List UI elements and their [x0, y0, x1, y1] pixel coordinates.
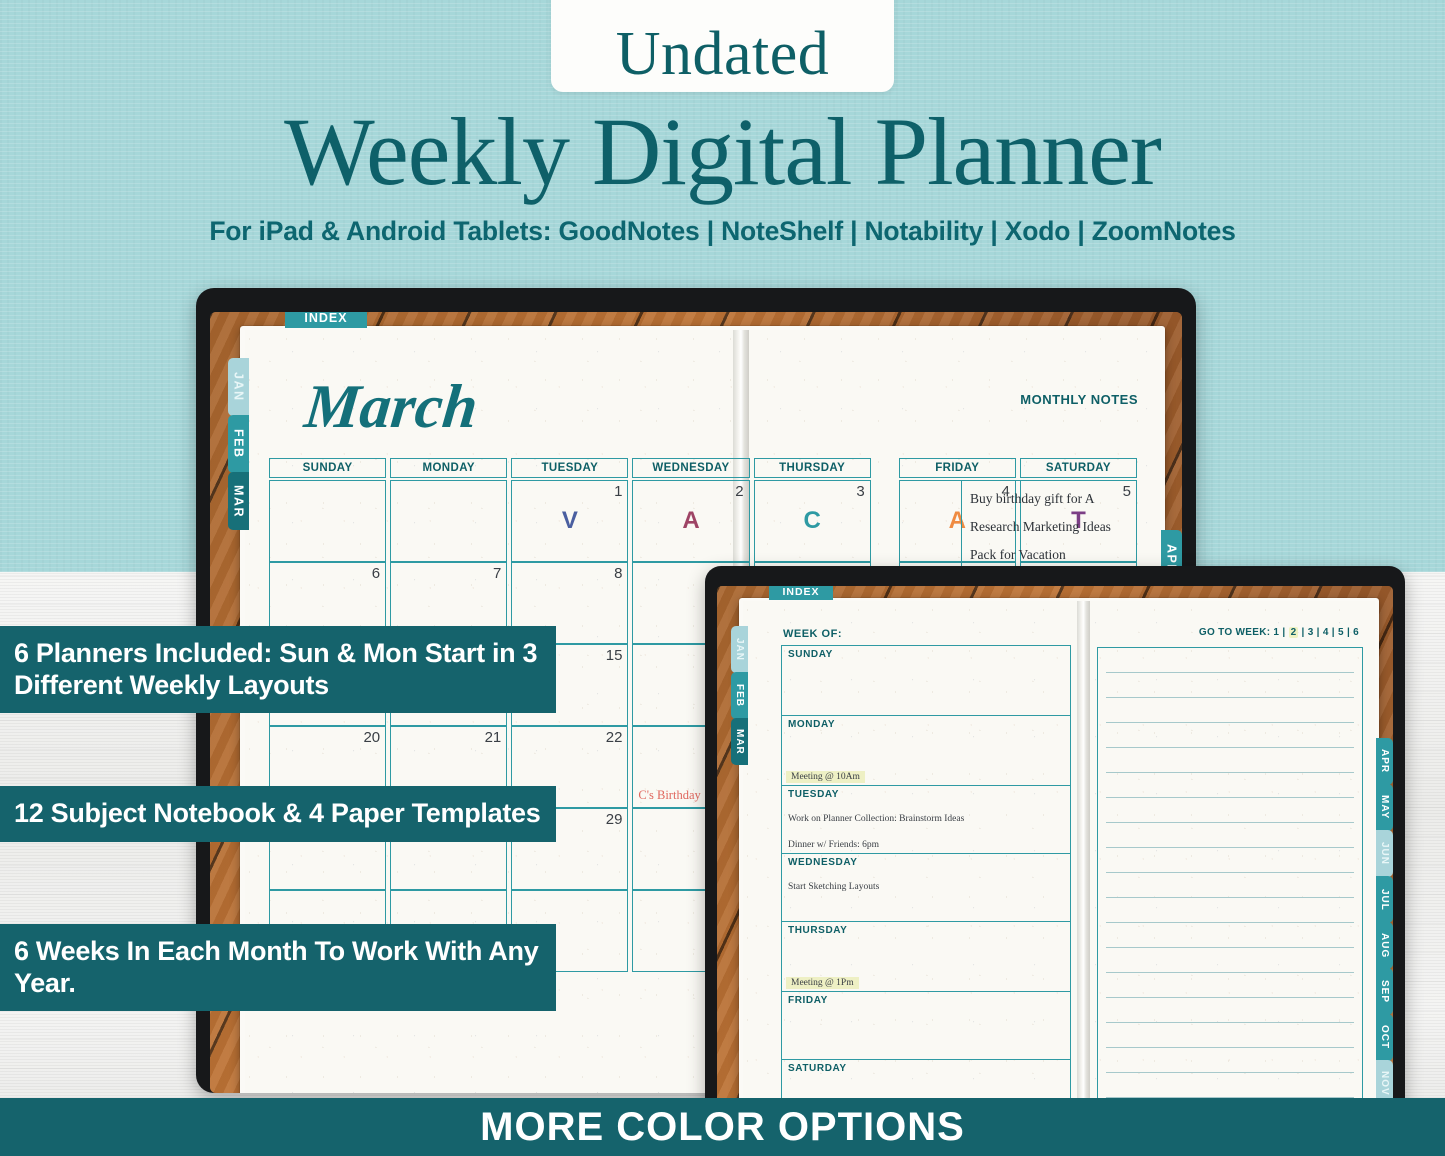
more-color-options-label: MORE COLOR OPTIONS	[480, 1105, 965, 1150]
calendar-day-number: 3	[856, 483, 864, 500]
goto-week-separator: |	[1314, 627, 1323, 638]
goto-week-separator: |	[1329, 627, 1338, 638]
note-line[interactable]	[1106, 898, 1354, 923]
calendar-weekday-header: TUESDAY	[511, 458, 628, 478]
calendar-day-number: 6	[372, 565, 380, 582]
month-tabs-left: JANFEBMAR	[731, 586, 751, 1126]
tablet-week-view: WEEK OF: GO TO WEEK: 1 | 2 | 3 | 4 | 5 |…	[705, 566, 1405, 1126]
calendar-day-cell[interactable]	[390, 480, 507, 562]
note-line[interactable]	[1106, 1048, 1354, 1073]
note-line[interactable]	[1106, 648, 1354, 673]
planner-page-week: WEEK OF: GO TO WEEK: 1 | 2 | 3 | 4 | 5 |…	[743, 601, 1375, 1126]
month-tab-apr[interactable]: APR	[1376, 738, 1393, 785]
day-note: Work on Planner Collection: Brainstorm I…	[782, 812, 1070, 824]
note-line[interactable]	[1106, 723, 1354, 748]
calendar-day-cell[interactable]: 1V	[511, 480, 628, 562]
calendar-day-cell[interactable]: 2A	[632, 480, 749, 562]
undated-badge: Undated	[551, 0, 894, 92]
note-line[interactable]	[1106, 698, 1354, 723]
month-tab-sep[interactable]: SEP	[1376, 968, 1393, 1015]
calendar-day-number: 1	[614, 483, 622, 500]
calendar-column-gap	[875, 480, 895, 562]
calendar-column-gap	[875, 458, 895, 478]
month-tab-mar[interactable]: MAR	[731, 718, 748, 765]
day-section-monday[interactable]: MONDAYMeeting @ 10Am	[781, 715, 1071, 785]
book-spine	[1077, 601, 1090, 1126]
calendar-day-number: 15	[606, 647, 623, 664]
day-label: THURSDAY	[782, 922, 1070, 936]
calendar-day-number: 7	[493, 565, 501, 582]
calendar-day-number: 2	[735, 483, 743, 500]
monthly-note-item: Pack for Vacation	[970, 547, 1128, 563]
calendar-day-cell[interactable]: 3C	[754, 480, 871, 562]
day-note: Meeting @ 10Am	[786, 771, 865, 783]
day-section-thursday[interactable]: THURSDAYMeeting @ 1Pm	[781, 921, 1071, 991]
note-line[interactable]	[1106, 848, 1354, 873]
feature-banner-2: 12 Subject Notebook & 4 Paper Templates	[0, 786, 556, 842]
calendar-weekday-header-row: SUNDAYMONDAYTUESDAYWEDNESDAYTHURSDAYFRID…	[269, 458, 1137, 478]
month-tab-feb[interactable]: FEB	[731, 672, 748, 719]
calendar-day-number: 8	[614, 565, 622, 582]
feature-banner-1: 6 Planners Included: Sun & Mon Start in …	[0, 626, 556, 713]
calendar-weekday-header: FRIDAY	[899, 458, 1016, 478]
note-line[interactable]	[1106, 873, 1354, 898]
day-label: TUESDAY	[782, 786, 1070, 800]
day-note: Dinner w/ Friends: 6pm	[782, 838, 1070, 850]
calendar-weekday-header: MONDAY	[390, 458, 507, 478]
month-tab-feb[interactable]: FEB	[228, 415, 249, 473]
calendar-day-number: 22	[606, 729, 623, 746]
month-tab-may[interactable]: MAY	[1376, 784, 1393, 831]
day-note: Start Sketching Layouts	[782, 880, 1070, 892]
month-tab-aug[interactable]: AUG	[1376, 922, 1393, 969]
day-label: FRIDAY	[782, 992, 1070, 1006]
page-subtitle: For iPad & Android Tablets: GoodNotes | …	[0, 216, 1445, 247]
index-tab[interactable]: INDEX	[769, 586, 833, 600]
note-line[interactable]	[1106, 773, 1354, 798]
weekly-notes-lines[interactable]	[1097, 647, 1363, 1125]
goto-week-separator: |	[1298, 627, 1307, 638]
note-line[interactable]	[1106, 823, 1354, 848]
month-tabs-right: APRMAYJUNJULAUGSEPOCTNOVDEC	[1373, 586, 1393, 1126]
calendar-day-number: 21	[485, 729, 502, 746]
calendar-day-cell[interactable]	[269, 480, 386, 562]
calendar-weekday-header: THURSDAY	[754, 458, 871, 478]
monthly-note-item: Buy birthday gift for A	[970, 491, 1128, 507]
month-tab-jul[interactable]: JUL	[1376, 876, 1393, 923]
note-line[interactable]	[1106, 948, 1354, 973]
calendar-weekday-header: SUNDAY	[269, 458, 386, 478]
note-line[interactable]	[1106, 748, 1354, 773]
note-line[interactable]	[1106, 798, 1354, 823]
goto-week-nav[interactable]: GO TO WEEK: 1 | 2 | 3 | 4 | 5 | 6	[1199, 627, 1359, 638]
day-label: SUNDAY	[782, 646, 1070, 660]
weekday-sections: SUNDAYMONDAYMeeting @ 10AmTUESDAYWork on…	[781, 645, 1071, 1123]
note-line[interactable]	[1106, 1073, 1354, 1098]
month-tab-jan[interactable]: JAN	[731, 626, 748, 673]
note-line[interactable]	[1106, 1023, 1354, 1048]
calendar-day-number: 29	[606, 811, 623, 828]
goto-week-label: GO TO WEEK:	[1199, 627, 1274, 638]
goto-week-separator: |	[1279, 627, 1288, 638]
day-section-tuesday[interactable]: TUESDAYWork on Planner Collection: Brain…	[781, 785, 1071, 853]
note-line[interactable]	[1106, 923, 1354, 948]
vacation-letter: V	[562, 507, 578, 535]
month-tab-oct[interactable]: OCT	[1376, 1014, 1393, 1061]
goto-week-6[interactable]: 6	[1353, 627, 1359, 638]
month-tab-mar[interactable]: MAR	[228, 472, 249, 530]
more-color-options-bar[interactable]: MORE COLOR OPTIONS	[0, 1098, 1445, 1156]
day-section-friday[interactable]: FRIDAY	[781, 991, 1071, 1059]
note-line[interactable]	[1106, 673, 1354, 698]
calendar-weekday-header: SATURDAY	[1020, 458, 1137, 478]
day-label: SATURDAY	[782, 1060, 1070, 1074]
goto-week-separator: |	[1344, 627, 1353, 638]
vacation-letter: C	[803, 507, 820, 535]
day-note: Meeting @ 1Pm	[786, 977, 859, 989]
goto-week-2[interactable]: 2	[1289, 627, 1299, 638]
week-of-label[interactable]: WEEK OF:	[783, 628, 842, 640]
vacation-letter: A	[682, 507, 699, 535]
monthly-note-item: Research Marketing Ideas	[970, 519, 1128, 535]
note-line[interactable]	[1106, 973, 1354, 998]
day-label: MONDAY	[782, 716, 1070, 730]
note-line[interactable]	[1106, 998, 1354, 1023]
month-tab-jun[interactable]: JUN	[1376, 830, 1393, 877]
calendar-day-number: 20	[363, 729, 380, 746]
monthly-notes-heading: MONTHLY NOTES	[1020, 392, 1138, 407]
month-tab-jan[interactable]: JAN	[228, 358, 249, 416]
index-tab[interactable]: INDEX	[285, 312, 367, 328]
day-label: WEDNESDAY	[782, 854, 1070, 868]
feature-banner-3: 6 Weeks In Each Month To Work With Any Y…	[0, 924, 556, 1011]
calendar-weekday-header: WEDNESDAY	[632, 458, 749, 478]
day-section-sunday[interactable]: SUNDAY	[781, 645, 1071, 715]
calendar-event-label: C's Birthday	[638, 788, 700, 803]
tablet-week-screen: WEEK OF: GO TO WEEK: 1 | 2 | 3 | 4 | 5 |…	[717, 586, 1393, 1126]
day-section-wednesday[interactable]: WEDNESDAYStart Sketching Layouts	[781, 853, 1071, 921]
page-title: Weekly Digital Planner	[0, 96, 1445, 207]
month-title: March	[301, 372, 481, 443]
undated-badge-label: Undated	[616, 25, 830, 92]
